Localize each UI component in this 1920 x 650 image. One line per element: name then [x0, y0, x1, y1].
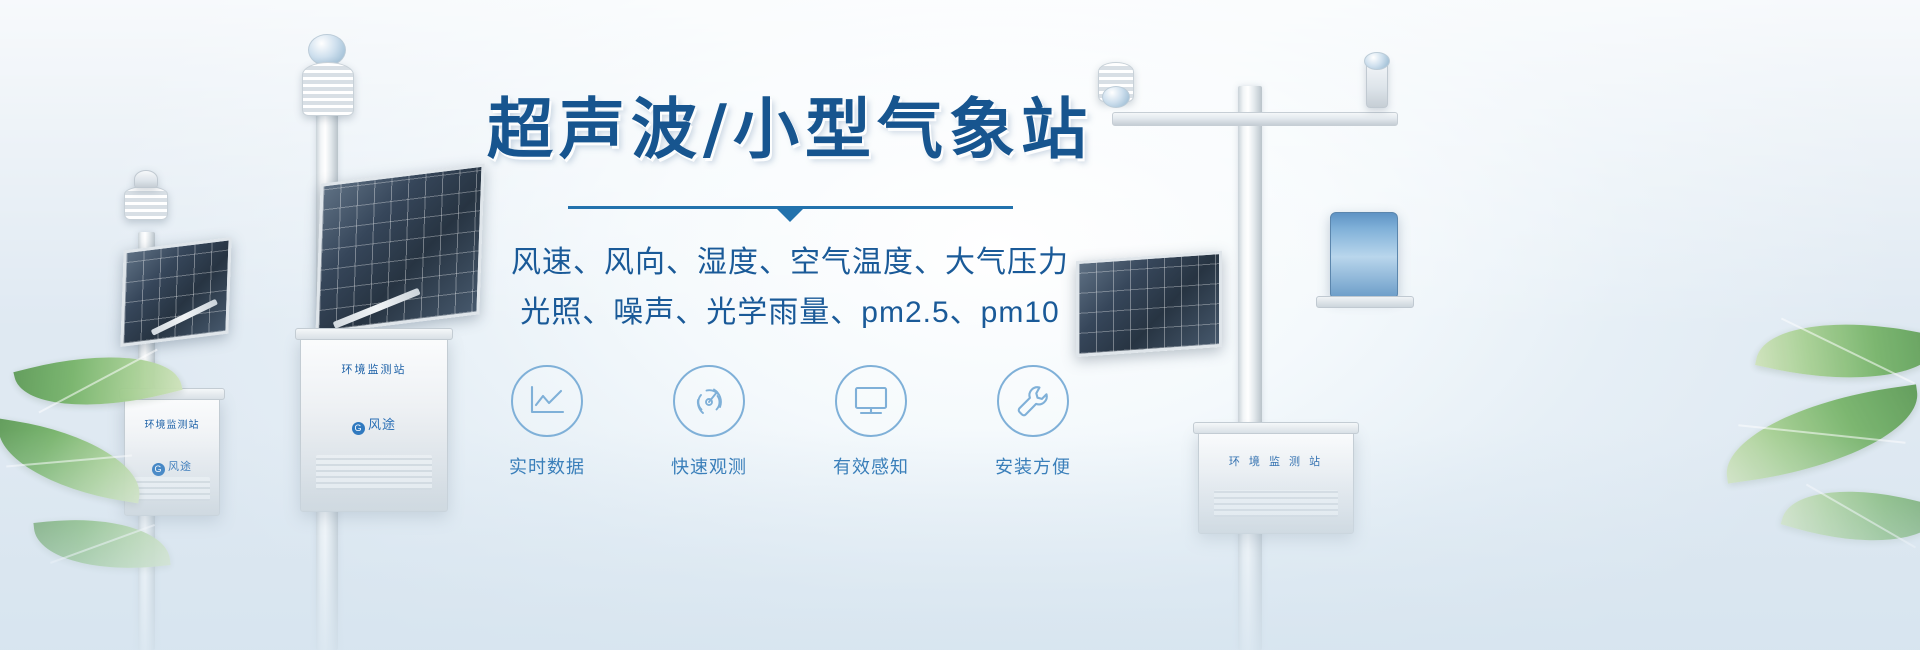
right-rain-gauge: [1330, 212, 1398, 298]
left-enclosure-brand: G风途: [125, 458, 219, 476]
feature-item-realtime-data[interactable]: 实时数据: [489, 365, 605, 479]
center-enclosure-brand: G风途: [301, 414, 447, 435]
right-enclosure-vent: [1214, 490, 1337, 517]
page-title: 超声波/小型气象站: [440, 96, 1140, 162]
left-sensor-head: [124, 186, 168, 220]
title-divider: [568, 206, 1013, 218]
right-station-pole: [1238, 86, 1262, 650]
right-enclosure-cap: [1193, 422, 1359, 434]
left-solar-panel: [120, 237, 231, 347]
brand-logo-icon: G: [152, 463, 165, 476]
feature-list: 实时数据 快: [440, 365, 1140, 479]
product-banner: 环境监测站 G风途 环境监测站 G风途: [0, 0, 1920, 650]
feature-icon-circle: [997, 365, 1069, 437]
right-enclosure-label: 环 境 监 测 站: [1199, 453, 1353, 469]
subtitle-line-1: 风速、风向、湿度、空气温度、大气压力: [440, 240, 1140, 286]
radar-scan-icon: [690, 382, 728, 420]
wrench-icon: [1014, 382, 1052, 420]
feature-label: 有效感知: [813, 453, 929, 479]
center-enclosure-label: 环境监测站: [301, 361, 447, 377]
left-enclosure-label: 环境监测站: [125, 416, 219, 431]
center-enclosure-cap: [295, 328, 453, 340]
right-vane-top: [1364, 52, 1390, 70]
left-ultrasonic-sensor: [134, 170, 158, 188]
leaf-decoration-right-2: [1718, 384, 1920, 483]
right-cross-arm: [1112, 112, 1398, 126]
left-enclosure-vent: [134, 477, 209, 501]
feature-item-easy-installation[interactable]: 安装方便: [975, 365, 1091, 479]
brand-logo-icon: G: [352, 422, 365, 435]
leaf-decoration-right-3: [1781, 466, 1920, 565]
center-enclosure: 环境监测站 G风途: [300, 336, 448, 512]
subtitle-line-2: 光照、噪声、光学雨量、pm2.5、pm10: [440, 290, 1140, 336]
feature-label: 安装方便: [975, 453, 1091, 479]
monitor-icon: [852, 385, 890, 417]
center-radiation-shield: [302, 62, 354, 116]
feature-item-effective-sensing[interactable]: 有效感知: [813, 365, 929, 479]
center-enclosure-vent: [316, 455, 433, 490]
feature-label: 快速观测: [651, 453, 767, 479]
banner-content: 超声波/小型气象站 风速、风向、湿度、空气温度、大气压力 光照、噪声、光学雨量、…: [440, 96, 1140, 496]
feature-icon-circle: [511, 365, 583, 437]
feature-item-fast-observation[interactable]: 快速观测: [651, 365, 767, 479]
feature-icon-circle: [673, 365, 745, 437]
line-chart-icon: [528, 384, 566, 418]
right-equipment-shelf: [1316, 296, 1414, 308]
feature-icon-circle: [835, 365, 907, 437]
feature-label: 实时数据: [489, 453, 605, 479]
divider-caret-icon: [777, 209, 803, 222]
right-enclosure: 环 境 监 测 站: [1198, 430, 1354, 534]
